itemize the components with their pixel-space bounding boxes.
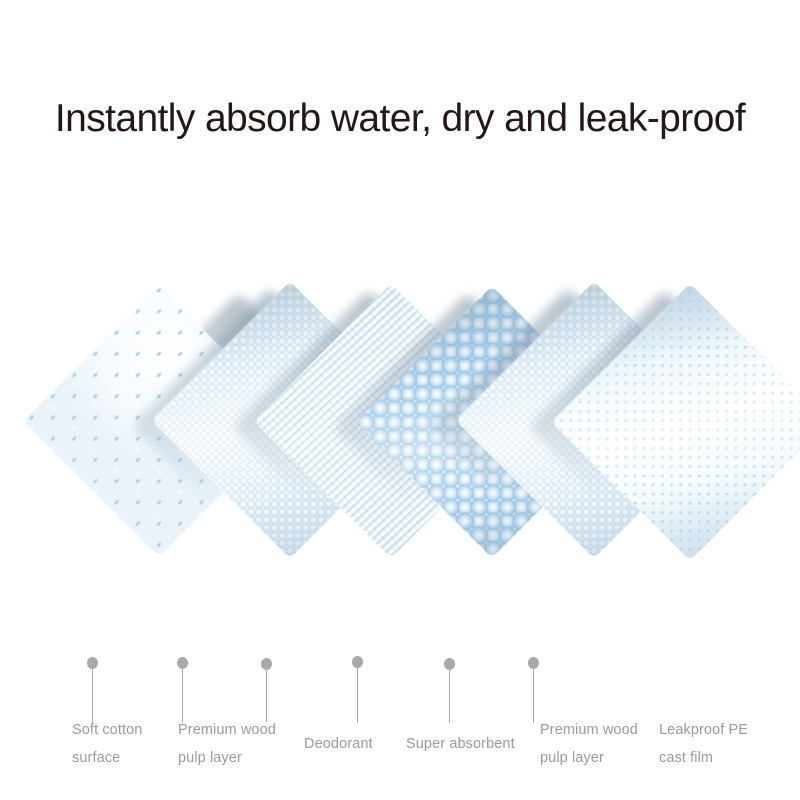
label-deodorant: Deodorant — [304, 730, 404, 758]
layer-diagram — [0, 228, 800, 638]
label-premium-wood-pulp-front: Premium wood pulp layer — [178, 716, 300, 772]
label-super-absorbent: Super absorbent — [406, 730, 536, 758]
label-soft-cotton-surface: Soft cotton surface — [72, 716, 192, 772]
pin-line — [449, 668, 450, 723]
pin-line — [92, 667, 93, 723]
page-title: Instantly absorb water, dry and leak-pro… — [0, 96, 800, 142]
pin-line — [357, 666, 358, 723]
label-leakproof-pe-cast-film: Leakproof PE cast film — [659, 716, 763, 772]
product-feature-infographic: Instantly absorb water, dry and leak-pro… — [0, 0, 800, 800]
pin-line — [533, 667, 534, 723]
pin-line — [182, 667, 183, 723]
label-premium-wood-pulp-back: Premium wood pulp layer — [540, 716, 662, 772]
pin-line — [266, 668, 267, 722]
